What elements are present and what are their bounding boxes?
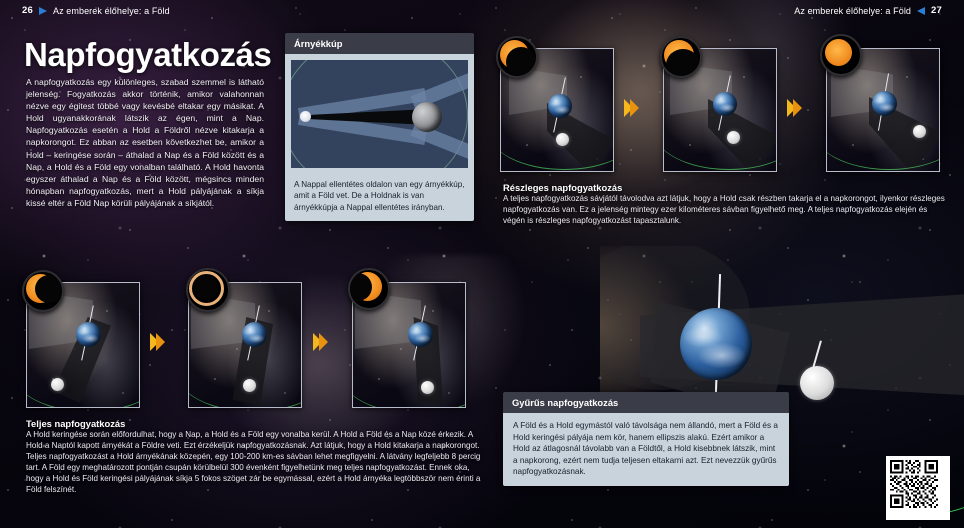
total-section-heading: Teljes napfogyatkozás	[26, 418, 125, 429]
moon-orbit-line	[188, 333, 302, 408]
triangle-left-icon	[917, 7, 925, 15]
double-chevron-right-icon-4	[313, 333, 328, 351]
total-section-text: A Hold keringése során előfordulhat, hog…	[26, 430, 489, 495]
right-running-title: Az emberek élőhelye: a Föld	[794, 6, 911, 16]
partial-section-heading: Részleges napfogyatkozás	[503, 182, 622, 193]
earth-sphere	[680, 308, 752, 380]
shadow-cone-card-title: Árnyékkúp	[285, 33, 474, 54]
triangle-right-icon	[39, 7, 47, 15]
moon-occluder	[506, 47, 536, 77]
intro-paragraph: A napfogyatkozás egy különleges, szabad …	[26, 76, 264, 209]
double-chevron-right-icon-2	[787, 99, 802, 117]
shadow-cone-card: Árnyékkúp A Nappal ellentétes oldalon va…	[285, 33, 474, 221]
double-chevron-right-icon-3	[150, 333, 165, 351]
annular-card-title: Gyűrűs napfogyatkozás	[503, 392, 789, 413]
moon-sphere	[51, 378, 64, 391]
partial-crescent-wide-phase-icon	[660, 36, 702, 78]
left-page-number: 26	[22, 5, 33, 16]
moon-orbit-line	[352, 335, 466, 408]
crescent-right-phase-icon	[348, 268, 390, 310]
annular-card-text: A Föld és a Hold egymástól való távolság…	[503, 413, 789, 486]
moon-occluder	[35, 275, 63, 303]
page-spread: 26 Az emberek élőhelye: a Föld Az embere…	[0, 0, 964, 528]
header-right: Az emberek élőhelye: a Föld 27	[794, 5, 942, 16]
moon-sphere	[800, 366, 834, 400]
full-sun-disc-phase-icon	[820, 34, 862, 76]
moon-orbit-line	[26, 333, 140, 408]
total-eclipse-corona-phase-icon	[186, 268, 230, 312]
moon-occluder	[193, 275, 218, 300]
crescent-left-phase-icon	[22, 270, 64, 312]
partial-crescent-top-phase-icon	[496, 36, 538, 78]
page-title: Napfogyatkozás	[24, 36, 271, 74]
qr-code[interactable]	[886, 456, 950, 520]
sun-disc	[825, 39, 852, 66]
moon-sphere	[421, 381, 434, 394]
earth-shadow-cone-diagram	[291, 60, 468, 168]
sun-icon	[300, 111, 311, 122]
earth-sphere	[412, 102, 442, 132]
moon-orbit-line	[500, 93, 614, 170]
moon-occluder	[666, 49, 700, 78]
double-chevron-right-icon-1	[624, 99, 639, 117]
right-page-number: 27	[931, 5, 942, 16]
moon-orbit-line	[663, 91, 777, 170]
partial-section-text: A teljes napfogyatkozás sávjától távolod…	[503, 194, 950, 227]
moon-sphere	[243, 379, 256, 392]
moon-sphere	[727, 131, 740, 144]
moon-sphere	[913, 125, 926, 138]
header-left: 26 Az emberek élőhelye: a Föld	[22, 5, 170, 16]
annular-eclipse-card: Gyűrűs napfogyatkozás A Föld és a Hold e…	[503, 392, 789, 486]
page-header: 26 Az emberek élőhelye: a Föld Az embere…	[0, 0, 964, 28]
shadow-cone-card-body	[285, 54, 474, 174]
left-running-title: Az emberek élőhelye: a Föld	[53, 6, 170, 16]
shadow-cone-card-caption: A Nappal ellentétes oldalon van egy árny…	[285, 174, 474, 221]
moon-sphere	[556, 133, 569, 146]
